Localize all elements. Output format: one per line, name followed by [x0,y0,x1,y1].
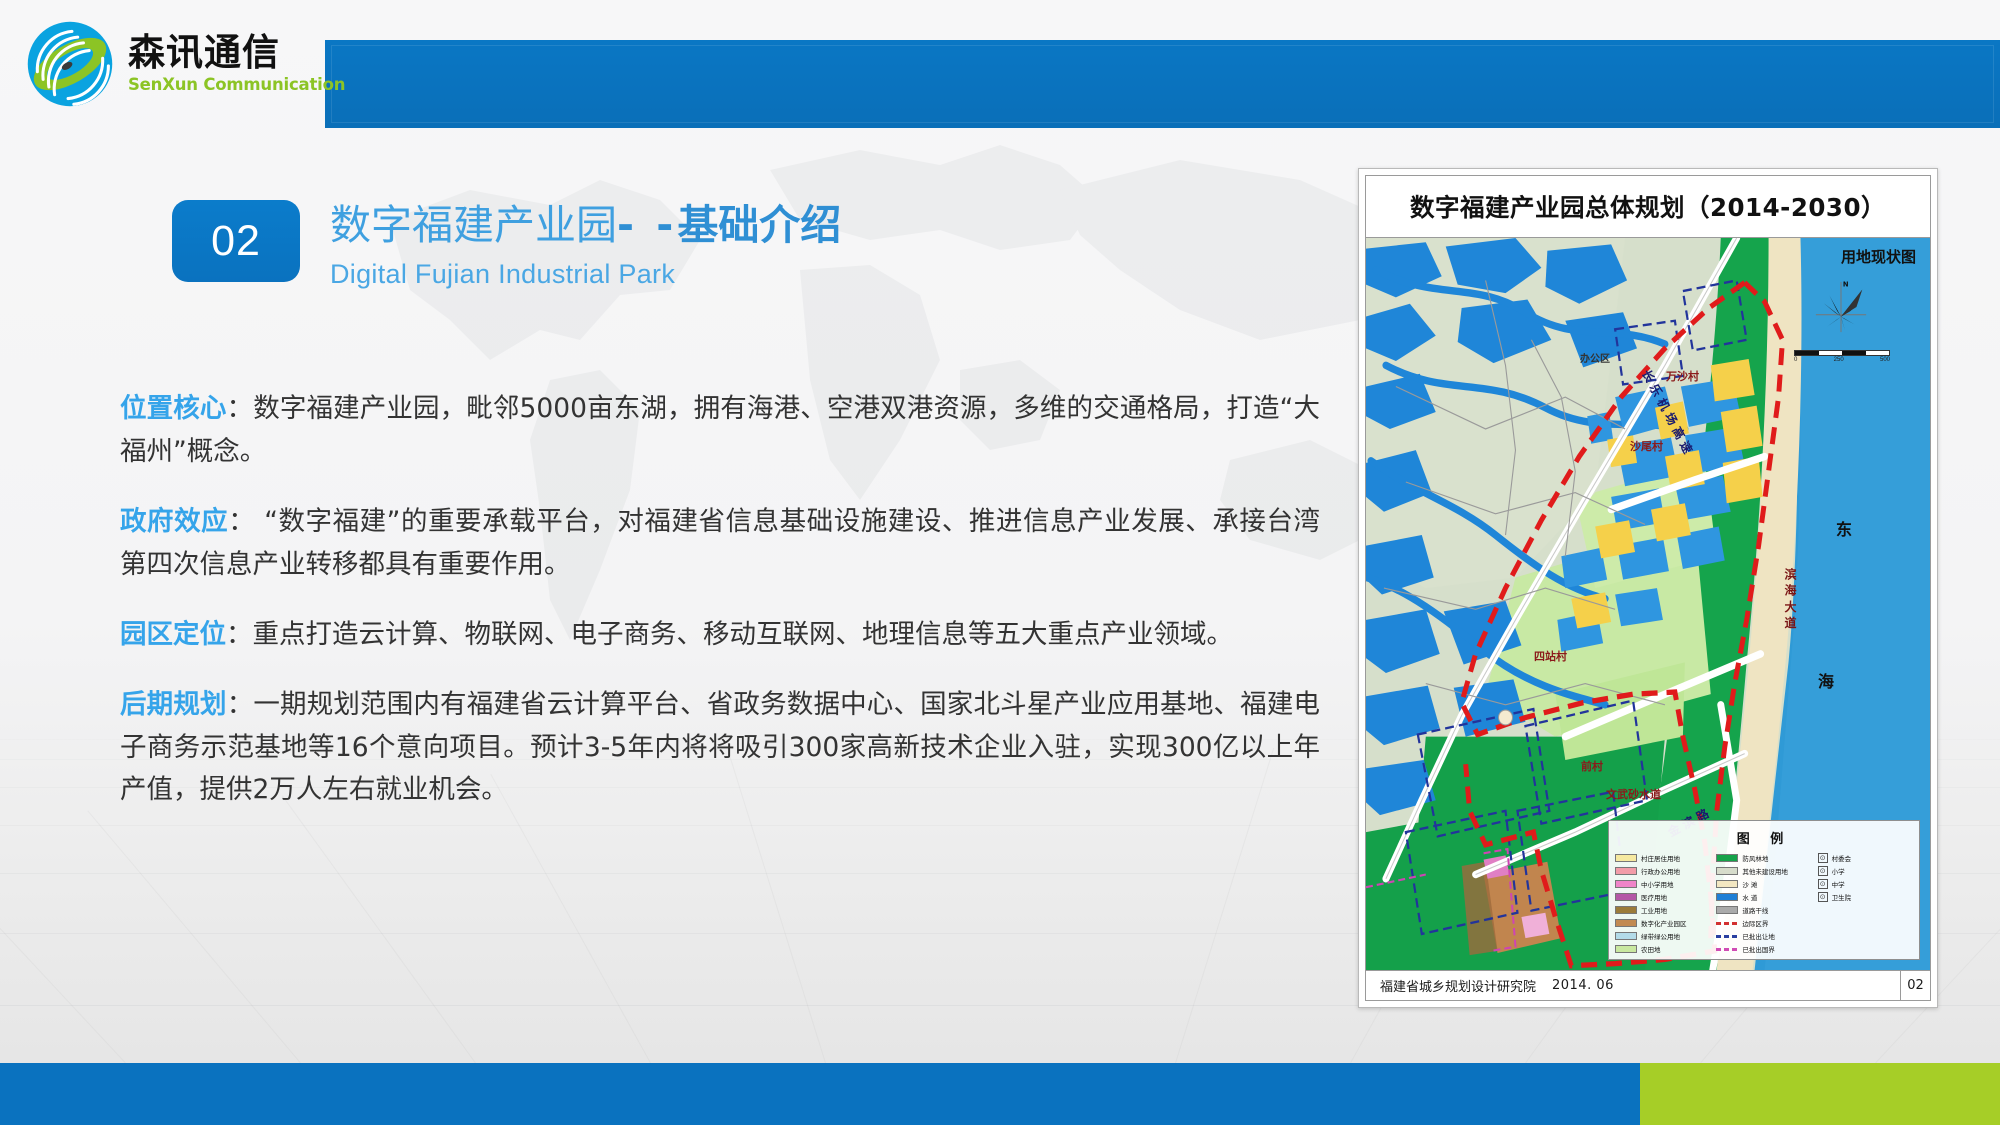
map-frame: 数字福建产业园总体规划（2014-2030） [1365,175,1931,1001]
map-legend-item: 沙 滩 [1716,879,1811,889]
map-page-number: 02 [1900,971,1930,1000]
map-legend-item: 防风林地 [1716,853,1811,863]
map-legend-columns: 村庄居住用地行政办公用地中小学用地医疗用地工业用地数字化产业园区绿带绿公用地农田… [1615,853,1913,954]
map-legend-item: 其他未建设用地 [1716,866,1811,876]
paragraph-lead: 后期规划 [120,689,227,720]
paragraph-lead: 政府效应 [120,506,228,537]
scale-tick-1: 250 [1834,357,1844,363]
map-footer-institute: 福建省城乡规划设计研究院 [1380,976,1536,995]
map-legend-label: 村委会 [1832,853,1852,863]
map-legend-swatch [1615,893,1637,901]
map-legend-swatch [1716,906,1738,914]
scale-tick-2: 500 [1880,357,1890,363]
map-image[interactable]: 用地现状图 东 海 长 乐 机 场 高 速 滨 海 大 道 金 滨 路 万沙村 … [1366,238,1930,970]
map-legend-swatch [1716,893,1738,901]
floor-grid-line-vertical [87,810,301,1063]
map-legend-item: 已批出国界 [1716,944,1811,954]
map-legend-label: 数字化产业园区 [1641,918,1687,928]
map-legend-dash-swatch [1716,948,1738,951]
section-heading-text: 数字福建产业园- -基础介绍 Digital Fujian Industrial… [330,200,841,290]
slide-canvas: 森讯通信 SenXun Communication 02 数字福建产业园- -基… [0,0,2000,1125]
map-legend-symbol-icon: ⊙ [1818,879,1828,889]
map-legend-column: 村庄居住用地行政办公用地中小学用地医疗用地工业用地数字化产业园区绿带绿公用地农田… [1615,853,1710,954]
map-title: 数字福建产业园总体规划（2014-2030） [1366,176,1930,238]
map-legend-label: 小学 [1832,866,1845,876]
map-legend-label: 行政办公用地 [1641,866,1680,876]
footer-bar-blue [0,1063,1640,1125]
globe-swoosh-logo-icon [22,16,118,112]
map-legend-label: 道路干线 [1742,905,1768,915]
map-legend-label: 卫生院 [1832,892,1852,902]
map-legend-item: ⊙村委会 [1818,853,1913,863]
map-legend-dash-swatch [1716,935,1738,938]
map-legend-swatch [1615,867,1637,875]
map-legend-label: 水 道 [1742,892,1757,902]
map-legend-item: 数字化产业园区 [1615,918,1710,928]
paragraph-text: 重点打造云计算、物联网、电子商务、移动互联网、地理信息等五大重点产业领域。 [253,619,1234,650]
body-content: 位置核心：数字福建产业园，毗邻5000亩东湖，拥有海港、空港双港资源，多维的交通… [120,388,1320,839]
paragraph-text: “数字福建”的重要承载平台，对福建省信息基础设施建设、推进信息产业发展、承接台湾… [120,506,1320,580]
map-panel[interactable]: 数字福建产业园总体规划（2014-2030） [1358,168,1938,1008]
map-legend-item: 行政办公用地 [1615,866,1710,876]
map-legend-item: 绿带绿公用地 [1615,931,1710,941]
map-legend-item: 农田地 [1615,944,1710,954]
map-legend-dash-swatch [1716,922,1738,925]
map-scale-bar: 0 250 500 [1794,350,1890,363]
page-title-secondary: 基础介绍 [677,201,841,249]
map-legend-item: 边际区界 [1716,918,1811,928]
paragraph-lead: 园区定位 [120,619,226,650]
brand-wordmark: 森讯通信 SenXun Communication [128,34,345,95]
map-legend-item: ⊙小学 [1818,866,1913,876]
map-legend-label: 其他未建设用地 [1742,866,1788,876]
map-legend-label: 村庄居住用地 [1641,853,1680,863]
paragraph-location: 位置核心：数字福建产业园，毗邻5000亩东湖，拥有海港、空港双港资源，多维的交通… [120,388,1320,474]
map-legend-swatch [1716,880,1738,888]
brand-name-cn: 森讯通信 [128,34,345,73]
footer-bar [0,1063,2000,1125]
paragraph-positioning: 园区定位：重点打造云计算、物联网、电子商务、移动互联网、地理信息等五大重点产业领… [120,614,1320,657]
map-legend-label: 工业用地 [1641,905,1667,915]
map-legend-label: 沙 滩 [1742,879,1757,889]
map-legend-symbol-icon: ⊙ [1818,892,1828,902]
map-legend-label: 防风林地 [1742,853,1768,863]
map-legend-label: 绿带绿公用地 [1641,931,1680,941]
compass-rose-icon: N [1812,278,1870,336]
map-legend-label: 医疗用地 [1641,892,1667,902]
map-footer: 福建省城乡规划设计研究院 2014. 06 02 [1366,970,1930,1000]
map-legend-swatch [1615,880,1637,888]
section-number-badge: 02 [172,200,300,282]
brand-logo: 森讯通信 SenXun Communication [22,14,332,114]
map-legend-title: 图 例 [1615,828,1913,847]
map-legend-item: 医疗用地 [1615,892,1710,902]
page-title-primary: 数字福建产业园 [330,201,617,249]
page-subtitle-en: Digital Fujian Industrial Park [330,259,841,290]
header-bar [325,40,2000,128]
map-footer-date: 2014. 06 [1552,978,1614,993]
floor-grid-line-vertical [0,821,126,1063]
paragraph-separator: ： [228,506,264,537]
brand-name-en: SenXun Communication [128,75,345,94]
map-legend-column: 防风林地其他未建设用地沙 滩水 道道路干线边际区界已批出让地已批出国界 [1716,853,1811,954]
paragraph-text: 数字福建产业园，毗邻5000亩东湖，拥有海港、空港双港资源，多维的交通格局，打造… [120,393,1320,467]
page-title-dash: - - [617,201,677,249]
map-legend-label: 农田地 [1641,944,1661,954]
map-legend-swatch [1615,932,1637,940]
scale-bar-ticks: 0 250 500 [1794,357,1890,363]
map-legend-label: 中小学用地 [1641,879,1674,889]
map-legend-swatch [1716,854,1738,862]
map-legend-item: 村庄居住用地 [1615,853,1710,863]
paragraph-text: 一期规划范围内有福建省云计算平台、省政务数据中心、国家北斗星产业应用基地、福建电… [120,689,1320,806]
scale-bar-segments [1794,350,1890,356]
paragraph-separator: ： [227,393,254,424]
footer-bar-green [1640,1063,2000,1125]
map-legend-item: 工业用地 [1615,905,1710,915]
paragraph-separator: ： [227,689,254,720]
map-legend-item: 已批出让地 [1716,931,1811,941]
map-legend-item: ⊙中学 [1818,879,1913,889]
map-legend-item: ⊙卫生院 [1818,892,1913,902]
map-legend-symbol-icon: ⊙ [1818,853,1828,863]
map-legend-label: 中学 [1832,879,1845,889]
map-legend: 图 例 村庄居住用地行政办公用地中小学用地医疗用地工业用地数字化产业园区绿带绿公… [1608,820,1920,960]
paragraph-future-plan: 后期规划：一期规划范围内有福建省云计算平台、省政务数据中心、国家北斗星产业应用基… [120,684,1320,813]
paragraph-separator: ： [226,619,253,650]
map-legend-label: 已批出国界 [1742,944,1775,954]
map-legend-item: 水 道 [1716,892,1811,902]
map-legend-item: 道路干线 [1716,905,1811,915]
map-legend-swatch [1615,906,1637,914]
paragraph-lead: 位置核心 [120,393,227,424]
header-bar-inner-border [331,45,1994,123]
map-legend-symbol-icon: ⊙ [1818,866,1828,876]
scale-tick-0: 0 [1794,357,1797,363]
section-heading: 02 数字福建产业园- -基础介绍 Digital Fujian Industr… [172,200,841,290]
svg-text:N: N [1843,281,1849,289]
map-legend-swatch [1615,854,1637,862]
map-legend-column: ⊙村委会⊙小学⊙中学⊙卫生院 [1818,853,1913,954]
page-title: 数字福建产业园- -基础介绍 [330,202,841,249]
map-legend-swatch [1716,867,1738,875]
map-legend-swatch [1615,945,1637,953]
map-legend-item: 中小学用地 [1615,879,1710,889]
map-legend-label: 已批出让地 [1742,931,1775,941]
paragraph-government: 政府效应： “数字福建”的重要承载平台，对福建省信息基础设施建设、推进信息产业发… [120,501,1320,587]
map-legend-label: 边际区界 [1742,918,1768,928]
map-legend-swatch [1615,919,1637,927]
